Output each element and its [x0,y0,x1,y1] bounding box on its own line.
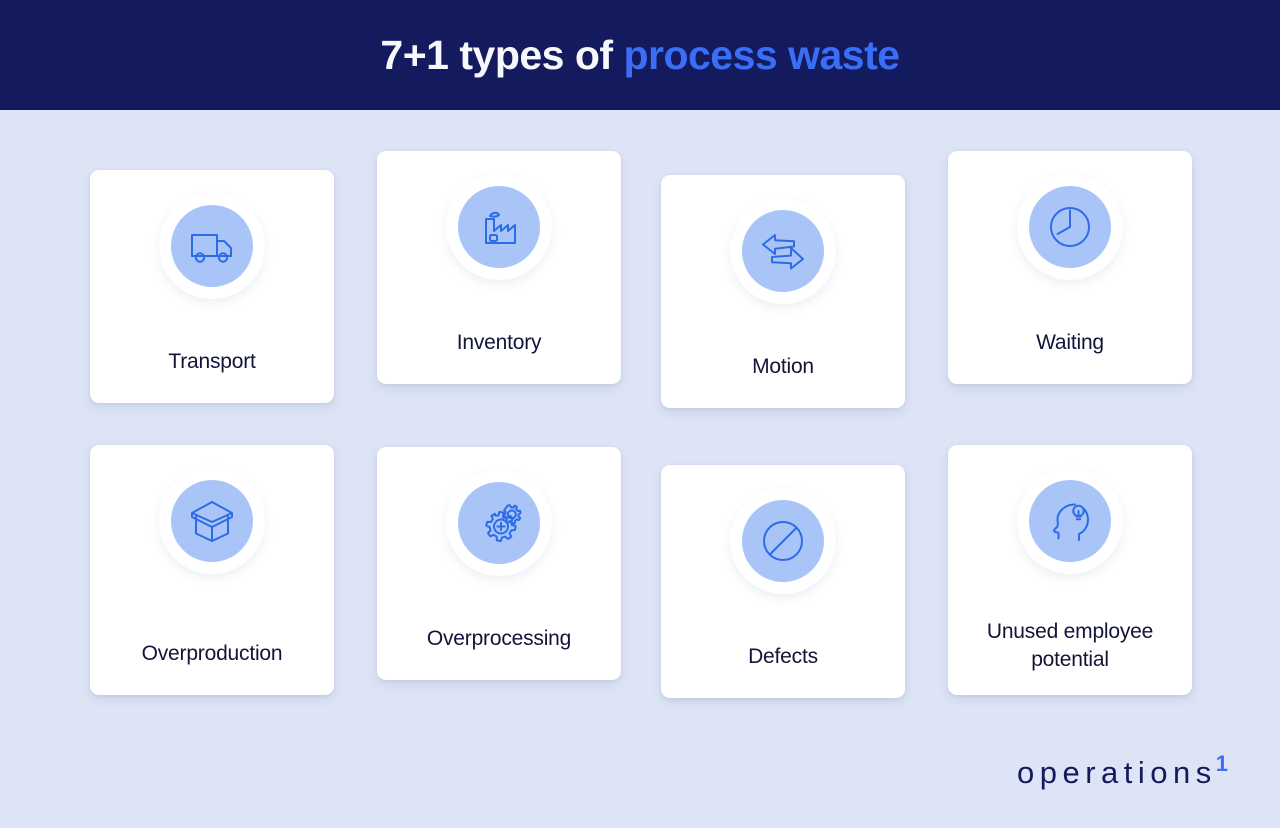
card-transport[interactable]: Transport [90,170,334,403]
icon-badge [446,174,552,280]
page-title-main: 7+1 types of [380,32,623,78]
icon-badge [730,198,836,304]
open-box-icon [187,496,237,546]
card-label: Overproduction [130,640,295,667]
brand-logo-superscript: 1 [1216,753,1228,775]
icon-disc [742,210,824,292]
page-header: 7+1 types of process waste [0,0,1280,110]
gears-icon [474,498,524,548]
card-label: Transport [156,348,267,375]
icon-badge [446,470,552,576]
icon-badge [1017,174,1123,280]
two-way-arrows-icon [758,226,808,276]
page-title-accent: process waste [623,32,899,78]
card-label: Unused employee potential [948,618,1192,673]
page-title: 7+1 types of process waste [380,35,899,76]
icon-disc [171,480,253,562]
head-lightbulb-icon [1045,496,1095,546]
icon-badge [1017,468,1123,574]
card-overprocessing[interactable]: Overprocessing [377,447,621,680]
icon-badge [159,193,265,299]
brand-logo: operations 1 [1017,757,1228,788]
card-label: Waiting [1024,329,1116,356]
brand-logo-word: operations [1017,757,1217,788]
card-label: Defects [736,643,830,670]
icon-disc [742,500,824,582]
card-inventory[interactable]: Inventory [377,151,621,384]
card-motion[interactable]: Motion [661,175,905,408]
icon-disc [1029,480,1111,562]
card-label: Motion [740,353,826,380]
card-label: Inventory [445,329,554,356]
icon-disc [458,482,540,564]
card-label: Overprocessing [415,625,583,652]
icon-disc [458,186,540,268]
icon-disc [171,205,253,287]
card-unused-employee-potential[interactable]: Unused employee potential [948,445,1192,695]
clock-icon [1045,202,1095,252]
icon-badge [159,468,265,574]
card-waiting[interactable]: Waiting [948,151,1192,384]
waste-card-grid: Transport Inventory Motion [0,110,1280,828]
card-defects[interactable]: Defects [661,465,905,698]
card-overproduction[interactable]: Overproduction [90,445,334,695]
icon-disc [1029,186,1111,268]
prohibited-circle-icon [758,516,808,566]
delivery-truck-icon [187,221,237,271]
icon-badge [730,488,836,594]
factory-icon [474,202,524,252]
